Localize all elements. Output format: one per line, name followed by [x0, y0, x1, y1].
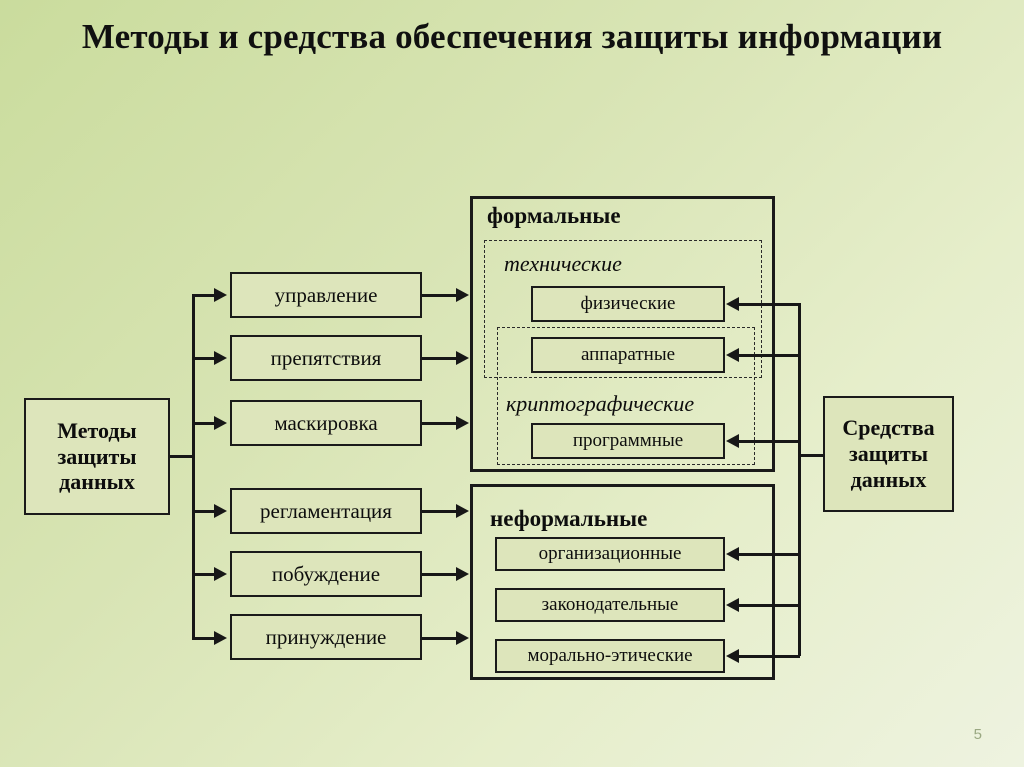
connector-bus-to-method-5 — [192, 573, 216, 576]
connector-branch-moralno-eticheskie — [739, 655, 800, 658]
leaf-box-moralno-eticheskie[interactable]: морально-этические — [495, 639, 725, 673]
connector-method-2-out — [422, 357, 458, 360]
arrow-to-method-1 — [214, 288, 227, 302]
arrow-into-zakonodatelnye — [726, 598, 739, 612]
connector-right-stem — [798, 454, 825, 457]
connector-bus-to-method-6 — [192, 637, 216, 640]
connector-branch-zakonodatelnye — [739, 604, 800, 607]
method-box-prinuzhdenie[interactable]: принуждение — [230, 614, 422, 660]
connector-branch-programmnye — [739, 440, 800, 443]
method-box-prepyatstviya[interactable]: препятствия — [230, 335, 422, 381]
connector-bus-to-method-2 — [192, 357, 216, 360]
arrow-into-moralno-eticheskie — [726, 649, 739, 663]
connector-method-1-out — [422, 294, 458, 297]
leaf-label: организационные — [539, 543, 682, 565]
method-label: принуждение — [266, 625, 387, 650]
method-label: регламентация — [260, 499, 392, 524]
method-box-upravlenie[interactable]: управление — [230, 272, 422, 318]
connector-method-3-out — [422, 422, 458, 425]
method-label: препятствия — [271, 346, 382, 371]
arrow-to-method-3 — [214, 416, 227, 430]
method-box-pobuzhdenie[interactable]: побуждение — [230, 551, 422, 597]
arrow-to-method-4 — [214, 504, 227, 518]
leaf-box-programmnye[interactable]: программные — [531, 423, 725, 459]
leaf-label: аппаратные — [581, 344, 675, 366]
connector-method-6-out — [422, 637, 458, 640]
connector-method-4-out — [422, 510, 458, 513]
method-box-reglamentaciya[interactable]: регламентация — [230, 488, 422, 534]
zone-technical-title: технические — [504, 251, 622, 277]
connector-method-5-out — [422, 573, 458, 576]
zone-cryptographic-title: криптографические — [506, 391, 694, 417]
connector-branch-apparatnye — [739, 354, 800, 357]
arrow-method-6-to-informal — [456, 631, 469, 645]
connector-bus-to-method-3 — [192, 422, 216, 425]
connector-left-bus — [192, 295, 195, 640]
root-means-box[interactable]: Средства защиты данных — [823, 396, 954, 512]
arrow-to-method-6 — [214, 631, 227, 645]
arrow-into-organizacionnye — [726, 547, 739, 561]
connector-bus-to-method-4 — [192, 510, 216, 513]
leaf-label: физические — [581, 293, 676, 315]
leaf-label: морально-этические — [527, 645, 692, 667]
method-label: маскировка — [274, 411, 377, 436]
connector-branch-fizicheskie — [739, 303, 800, 306]
arrow-method-4-to-informal — [456, 504, 469, 518]
arrow-method-5-to-informal — [456, 567, 469, 581]
method-box-maskirovka[interactable]: маскировка — [230, 400, 422, 446]
leaf-box-zakonodatelnye[interactable]: законодательные — [495, 588, 725, 622]
leaf-box-apparatnye[interactable]: аппаратные — [531, 337, 725, 373]
root-methods-box[interactable]: Методы защиты данных — [24, 398, 170, 515]
page-number: 5 — [974, 726, 982, 743]
leaf-label: программные — [573, 430, 683, 452]
arrow-method-3-to-formal — [456, 416, 469, 430]
method-label: побуждение — [272, 562, 380, 587]
connector-branch-organizacionnye — [739, 553, 800, 556]
connector-bus-to-method-1 — [192, 294, 216, 297]
arrow-to-method-2 — [214, 351, 227, 365]
slide-canvas: Методы и средства обеспечения защиты инф… — [0, 0, 1024, 767]
arrow-into-programmnye — [726, 434, 739, 448]
leaf-box-fizicheskie[interactable]: физические — [531, 286, 725, 322]
leaf-label: законодательные — [542, 594, 679, 616]
arrow-into-fizicheskie — [726, 297, 739, 311]
connector-root-stem — [170, 455, 194, 458]
arrow-method-1-to-formal — [456, 288, 469, 302]
arrow-into-apparatnye — [726, 348, 739, 362]
method-label: управление — [275, 283, 378, 308]
page-title: Методы и средства обеспечения защиты инф… — [0, 14, 1024, 60]
leaf-box-organizacionnye[interactable]: организационные — [495, 537, 725, 571]
arrow-method-2-to-formal — [456, 351, 469, 365]
group-formal-title: формальные — [487, 203, 621, 229]
root-methods-label: Методы защиты данных — [26, 418, 168, 496]
group-informal-title: неформальные — [490, 506, 647, 532]
arrow-to-method-5 — [214, 567, 227, 581]
root-means-label: Средства защиты данных — [825, 415, 952, 493]
